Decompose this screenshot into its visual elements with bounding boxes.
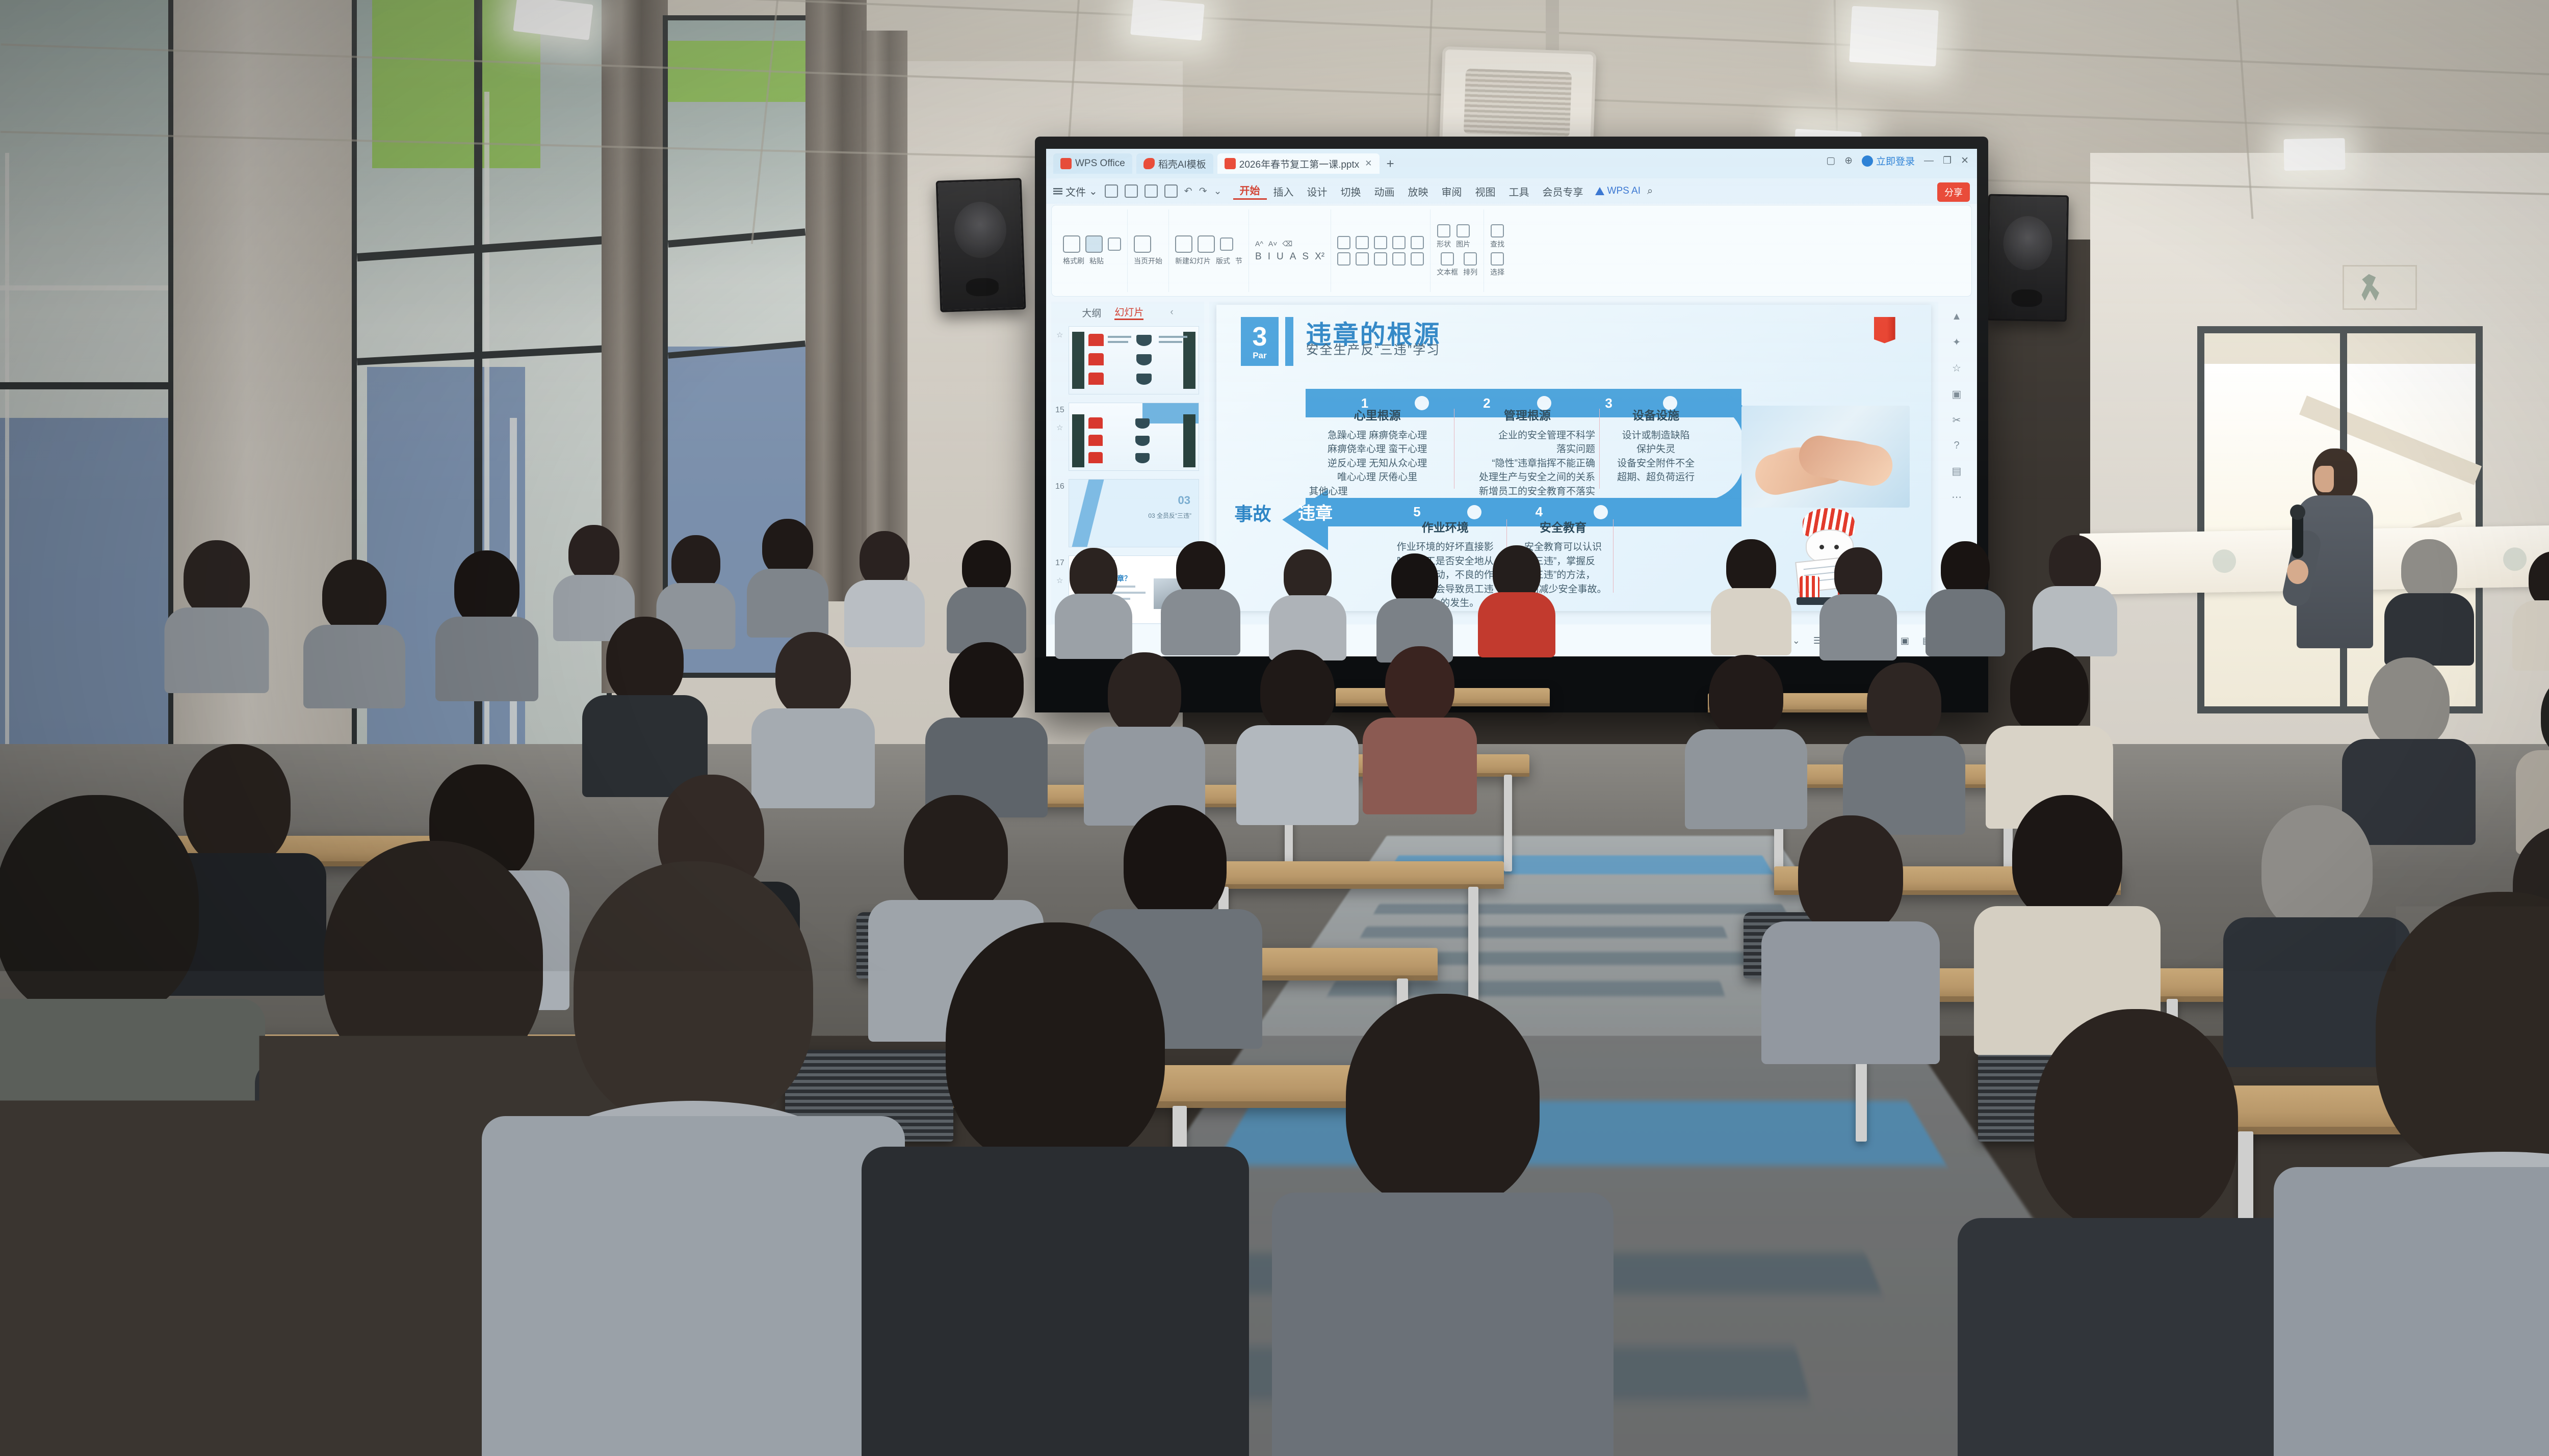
favorites-icon[interactable]: ☆ [1952, 362, 1961, 375]
thumbnail-slide-14[interactable] [1069, 326, 1199, 394]
select-label: 选择 [1490, 267, 1504, 277]
picture-label: 图片 [1456, 239, 1470, 249]
bold-button[interactable]: B [1255, 251, 1262, 262]
column-line: 设计或制造缺陷 [1606, 429, 1706, 443]
start-from-current-label: 当页开始 [1134, 256, 1162, 266]
clear-format-icon[interactable]: ⌫ [1282, 240, 1292, 248]
ribbon-tab-design[interactable]: 设计 [1300, 184, 1334, 199]
flow-column-3: 设备设施 设计或制造缺陷 保护失灵 设备安全附件不全 超期、超负荷运行 [1606, 407, 1706, 485]
chevron-left-icon[interactable]: ‹ [1170, 307, 1173, 318]
select-icon [1491, 252, 1504, 266]
tab-wps-office[interactable]: WPS Office [1053, 153, 1132, 174]
bullets-icon[interactable] [1337, 236, 1350, 249]
new-slide-label: 新建幻灯片 [1175, 256, 1211, 266]
chevron-down-icon: ⌄ [1089, 185, 1098, 198]
presenter [2279, 448, 2391, 663]
attendee [755, 632, 872, 798]
ribbon-tab-slideshow[interactable]: 放映 [1401, 184, 1435, 199]
layout-button[interactable] [1198, 235, 1215, 253]
minimize-button[interactable]: — [1924, 155, 1934, 167]
column-line: 逆反心理 无知从众心理 [1306, 457, 1448, 471]
column-heading: 安全教育 [1513, 519, 1613, 536]
align-left-icon[interactable] [1337, 252, 1350, 266]
print-preview-icon[interactable] [1164, 184, 1178, 198]
ribbon-tab-view[interactable]: 视图 [1469, 184, 1502, 199]
align-right-icon[interactable] [1374, 252, 1387, 266]
file-menu-button[interactable]: 文件 ⌄ [1053, 184, 1098, 199]
navigator-tabs[interactable]: 大纲 幻灯片 ‹ [1051, 302, 1204, 323]
more-icon[interactable]: ⋯ [1952, 491, 1962, 504]
chevron-down-icon: ⌄ [1792, 636, 1800, 646]
attendee [846, 531, 923, 639]
title-accent-bar [1285, 317, 1293, 366]
columns-icon[interactable] [1411, 252, 1424, 266]
attendee [1968, 1009, 2304, 1456]
column-line: “隐性”违章指挥不能正确 [1460, 457, 1595, 471]
save-as-icon[interactable] [1125, 184, 1138, 198]
wps-ai-button[interactable]: WPS AI [1595, 186, 1641, 197]
flow-column-1: 心里根源 急躁心理 麻痹侥幸心理 麻痹侥幸心理 蛮干心理 逆反心理 无知从众心理… [1306, 407, 1448, 498]
brush-icon [1063, 235, 1080, 253]
attendee [1988, 647, 2111, 815]
ribbon-tab-member[interactable]: 会员专享 [1536, 184, 1590, 199]
tab-outline[interactable]: 大纲 [1082, 306, 1101, 320]
section-label: 节 [1235, 256, 1242, 266]
login-button[interactable]: 立即登录 [1862, 154, 1915, 168]
arrange-button[interactable]: 排列 [1463, 252, 1477, 277]
tab-label: 稻壳AI模板 [1158, 157, 1206, 171]
share-button[interactable]: 分享 [1937, 182, 1970, 202]
attendee [2034, 535, 2116, 647]
ceiling-light-panel [2283, 138, 2345, 171]
attendee [1366, 646, 1473, 807]
attendee [1269, 549, 1346, 654]
layout-label: 版式 [1216, 256, 1230, 266]
strikethrough-button[interactable]: S [1302, 251, 1309, 262]
attendee [1687, 655, 1805, 818]
curtain-left-3 [862, 31, 907, 591]
indent-increase-icon[interactable] [1392, 236, 1406, 249]
layout-icon [1198, 235, 1215, 253]
save-icon[interactable] [1105, 184, 1118, 198]
new-slide-button[interactable] [1175, 235, 1192, 253]
column-line: 新增员工的安全教育不落实 [1460, 485, 1595, 499]
ac-support-rod [1546, 0, 1559, 58]
column-divider [1454, 409, 1454, 488]
feedback-icon[interactable]: ▤ [1952, 465, 1962, 478]
attendee [168, 540, 265, 683]
cut-button[interactable] [1108, 237, 1121, 251]
resources-icon[interactable]: ▣ [1952, 388, 1962, 401]
flow-dot [1467, 505, 1481, 519]
print-icon[interactable] [1145, 184, 1158, 198]
ai-icon [1595, 187, 1604, 195]
start-from-current-button[interactable] [1134, 235, 1151, 253]
format-painter-label: 格式刷 [1063, 256, 1084, 266]
line-spacing-icon[interactable] [1411, 236, 1424, 249]
attendee [1239, 650, 1356, 814]
attendee [1162, 541, 1239, 648]
training-room-scene: WPS Office 稻壳AI模板 2026年春节复工第一课.pptx ✕ + … [0, 0, 2549, 1456]
section-number: 3 [1252, 324, 1267, 350]
italic-button[interactable]: I [1268, 251, 1270, 262]
column-line: 急躁心理 麻痹侥幸心理 [1306, 429, 1448, 443]
chevron-down-icon[interactable]: ⌄ [1214, 186, 1222, 197]
attendee [1285, 994, 1601, 1456]
reset-icon [1220, 237, 1233, 251]
document-tab-bar[interactable]: WPS Office 稻壳AI模板 2026年春节复工第一课.pptx ✕ + … [1046, 149, 1977, 178]
column-line: 麻痹侥幸心理 蛮干心理 [1306, 442, 1448, 457]
arrange-icon [1464, 252, 1477, 266]
template-icon [1143, 158, 1155, 169]
window-controls[interactable]: ▢ ⊕ 立即登录 — ❐ ✕ [1826, 154, 1969, 168]
ribbon-group-drawing[interactable]: 形状 图片 文本框 排列 [1430, 209, 1484, 292]
column-line: 处理生产与安全之间的关系 [1460, 470, 1595, 485]
justify-icon[interactable] [1392, 252, 1406, 266]
section-label: Par [1253, 351, 1266, 360]
superscript-button[interactable]: X² [1315, 251, 1324, 262]
menu-icon [1053, 188, 1062, 195]
attendee [2294, 892, 2549, 1456]
attendee [1376, 553, 1453, 657]
indent-decrease-icon[interactable] [1374, 236, 1387, 249]
align-center-icon[interactable] [1356, 252, 1369, 266]
format-painter-button[interactable] [1063, 235, 1080, 253]
tab-label: WPS Office [1075, 158, 1125, 169]
shapes-button[interactable]: 形状 [1437, 224, 1451, 249]
attendee [556, 525, 632, 632]
scissors-icon [1108, 237, 1121, 251]
attendee [438, 550, 535, 693]
font-size-shrink-icon[interactable]: A˅ [1268, 240, 1278, 248]
search-icon [1491, 224, 1504, 237]
attendee [928, 642, 1045, 807]
powerpoint-icon [1225, 158, 1236, 169]
paste-icon [1085, 235, 1103, 253]
attendee [2386, 539, 2473, 656]
paste-button[interactable] [1085, 235, 1103, 253]
column-heading: 心里根源 [1306, 407, 1448, 424]
attendee [2513, 551, 2549, 663]
undo-icon[interactable]: ↶ [1184, 186, 1192, 197]
ribbon-tab-insert[interactable]: 插入 [1267, 184, 1300, 199]
close-icon[interactable]: ✕ [1365, 158, 1372, 169]
column-divider [1599, 409, 1600, 488]
desk-leg [1468, 887, 1478, 1004]
font-size-grow-icon[interactable]: A^ [1255, 240, 1263, 248]
curtain-left-2 [805, 0, 867, 601]
textbox-icon [1441, 252, 1454, 266]
attendee [1927, 541, 2004, 648]
bookmark-flag-icon [1874, 317, 1895, 346]
attendee [1713, 539, 1789, 647]
thumbnail-slide-15[interactable] [1069, 403, 1199, 471]
play-icon [1134, 235, 1151, 253]
column-line: 超期、超负荷运行 [1606, 470, 1706, 485]
panel-toggle-icon[interactable]: ▢ [1826, 155, 1835, 167]
attendee [1055, 548, 1132, 653]
column-divider [1613, 519, 1614, 593]
design-ideas-icon[interactable]: ✦ [1953, 336, 1961, 349]
textbox-button[interactable]: 文本框 [1437, 252, 1458, 277]
thumbnail-title: 03 全员反“三违” [1148, 511, 1191, 520]
tab-presentation-document[interactable]: 2026年春节复工第一课.pptx ✕ [1217, 153, 1380, 174]
ribbon-group-font[interactable]: A^ A˅ ⌫ B I U A S X² [1249, 209, 1331, 292]
column-line: 唯心心理 厌倦心里 [1306, 470, 1448, 485]
tools-icon[interactable]: ✂ [1953, 414, 1961, 427]
wall-speaker-left [936, 178, 1026, 312]
text-shadow-button[interactable]: A [1290, 251, 1296, 262]
numbering-icon[interactable] [1356, 236, 1369, 249]
attendee [306, 560, 403, 700]
attendee [948, 540, 1025, 647]
wps-ai-label: WPS AI [1607, 186, 1641, 197]
window-left-1 [0, 0, 173, 790]
shapes-label: 形状 [1437, 239, 1451, 249]
ribbon-tab-transitions[interactable]: 切换 [1334, 184, 1368, 199]
violation-label: 违章 [1298, 499, 1333, 524]
close-button[interactable]: ✕ [1961, 155, 1969, 167]
new-tab-button[interactable]: + [1384, 156, 1397, 172]
thumbnail-number: 16 [1055, 482, 1064, 491]
login-label: 立即登录 [1876, 154, 1915, 168]
ceiling-light-panel [1130, 0, 1205, 41]
new-slide-icon [1175, 235, 1192, 253]
section-badge: 3 Par [1241, 317, 1279, 366]
select-button[interactable]: 选择 [1490, 252, 1504, 277]
find-label: 查找 [1490, 239, 1504, 249]
thumbnail-number: 15 [1055, 406, 1064, 415]
column-heading: 作业环境 [1388, 519, 1502, 536]
column-heading: 设备设施 [1606, 407, 1706, 424]
ribbon-group-clipboard[interactable]: 格式刷 粘贴 [1057, 209, 1128, 292]
tab-slides[interactable]: 幻灯片 [1114, 305, 1143, 320]
paste-label: 粘贴 [1089, 256, 1104, 266]
quick-access-toolbar[interactable]: ↶ ↷ ⌄ [1105, 184, 1222, 198]
reset-button[interactable] [1220, 237, 1233, 251]
column-line: 设备安全附件不全 [1606, 457, 1706, 471]
tab-label: 2026年春节复工第一课.pptx [1239, 157, 1359, 171]
attendee [1086, 652, 1203, 815]
help-icon[interactable]: ? [1954, 440, 1959, 452]
column-line: 落实问题 [1460, 442, 1595, 457]
desk-leg [1504, 775, 1512, 871]
textbox-label: 文本框 [1437, 267, 1458, 277]
star-icon[interactable]: ☆ [1056, 423, 1063, 432]
wall-speaker-right [1986, 194, 2069, 322]
ribbon-group-paragraph[interactable] [1331, 209, 1430, 292]
attendee [877, 922, 1234, 1456]
ribbon-tab-tools[interactable]: 工具 [1502, 184, 1536, 199]
ceiling-light-panel [1849, 6, 1939, 67]
attendee [500, 861, 887, 1456]
attendee [1845, 663, 1963, 825]
handshake-photo [1741, 406, 1910, 508]
ribbon-toolbar[interactable]: 格式刷 粘贴 当页开始 [1051, 205, 1972, 297]
help-icon[interactable]: ⊕ [1844, 155, 1853, 167]
attendee [1478, 545, 1555, 651]
picture-button[interactable]: 图片 [1456, 224, 1470, 249]
search-icon[interactable]: ⌕ [1641, 186, 1659, 197]
attendee [749, 519, 826, 628]
file-menu-label: 文件 [1065, 184, 1086, 199]
underline-button[interactable]: U [1277, 251, 1284, 262]
attendee [2345, 657, 2473, 831]
ribbon-group-slides[interactable]: 新建幻灯片 版式 节 [1169, 209, 1249, 292]
attendee [1764, 815, 1937, 1055]
arrange-label: 排列 [1463, 267, 1477, 277]
maximize-button[interactable]: ❐ [1943, 155, 1952, 167]
attendee [1820, 547, 1896, 653]
thumbnail-slide-16[interactable]: 03 03 全员反“三违” [1069, 479, 1199, 547]
wps-logo-icon [1060, 158, 1072, 169]
attendee [0, 795, 255, 1254]
column-line: 其他心理 [1306, 485, 1448, 499]
ribbon-tab-animations[interactable]: 动画 [1368, 184, 1401, 199]
ribbon-tab-bar[interactable]: 文件 ⌄ ↶ ↷ ⌄ 开始 插入 设计 切换 [1046, 178, 1977, 204]
redo-icon[interactable]: ↷ [1199, 186, 1207, 197]
tab-ai-template[interactable]: 稻壳AI模板 [1136, 153, 1213, 174]
column-line: 保护失灵 [1606, 442, 1706, 457]
avatar [1862, 155, 1873, 167]
star-icon[interactable]: ☆ [1056, 330, 1063, 339]
ribbon-group-slideshow[interactable]: 当页开始 [1128, 209, 1169, 292]
flow-dot [1594, 505, 1608, 519]
scroll-up-icon[interactable]: ▲ [1952, 311, 1962, 323]
image-icon [1456, 224, 1470, 237]
column-heading: 管理根源 [1460, 407, 1595, 424]
ribbon-group-editing[interactable]: 查找 选择 [1484, 209, 1511, 292]
ribbon-tab-start[interactable]: 开始 [1233, 182, 1267, 200]
attendee [1978, 795, 2156, 1045]
accident-label: 事故 [1234, 499, 1271, 526]
attendee [586, 617, 704, 785]
normal-view-button[interactable]: ▣ [1901, 636, 1909, 646]
attendee [2518, 673, 2549, 842]
ribbon-tab-review[interactable]: 审阅 [1435, 184, 1469, 199]
find-button[interactable]: 查找 [1490, 224, 1504, 249]
shapes-icon [1437, 224, 1450, 237]
column-line: 企业的安全管理不科学 [1460, 429, 1595, 443]
slide-subtitle: 安全生产反“三违”学习 [1306, 340, 1440, 358]
emergency-exit-sign [2343, 265, 2417, 310]
flow-column-2: 管理根源 企业的安全管理不科学 落实问题 “隐性”违章指挥不能正确 处理生产与安… [1460, 407, 1595, 498]
